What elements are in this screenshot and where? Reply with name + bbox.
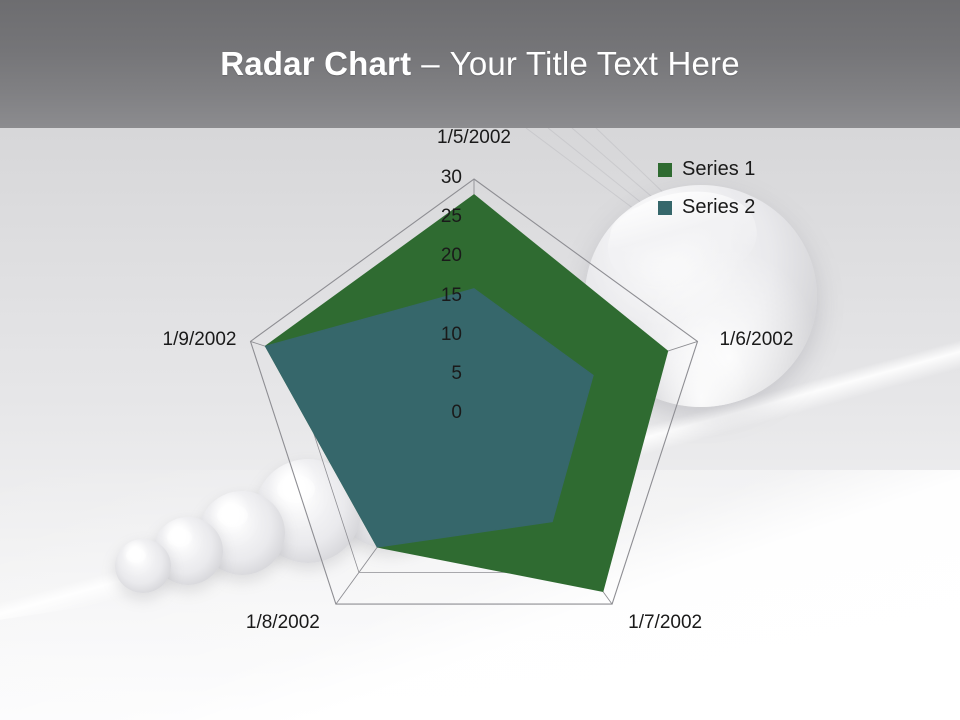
legend-label: Series 2: [682, 196, 755, 219]
chart-legend: Series 1Series 2: [658, 158, 828, 234]
legend-label: Series 1: [682, 158, 755, 181]
title-bold-part: Radar Chart: [220, 45, 411, 83]
category-label-1-6-2002: 1/6/2002: [719, 329, 829, 351]
radial-tick-label-5: 5: [406, 363, 462, 385]
legend-swatch-icon-series-1: [658, 163, 672, 177]
category-label-1-5-2002: 1/5/2002: [426, 127, 522, 149]
legend-item-series-2[interactable]: Series 2: [658, 196, 828, 219]
category-label-1-8-2002: 1/8/2002: [210, 612, 320, 634]
radial-tick-label-20: 20: [406, 245, 462, 267]
radial-tick-label-0: 0: [406, 402, 462, 424]
category-label-1-7-2002: 1/7/2002: [628, 612, 738, 634]
radial-tick-label-30: 30: [406, 167, 462, 189]
radial-tick-label-10: 10: [406, 324, 462, 346]
legend-swatch-icon-series-2: [658, 201, 672, 215]
title-dash: –: [421, 45, 440, 83]
page-title: Radar Chart – Your Title Text Here: [0, 0, 960, 128]
radial-tick-label-15: 15: [406, 285, 462, 307]
legend-item-series-1[interactable]: Series 1: [658, 158, 828, 181]
slide-canvas: Radar Chart – Your Title Text Here 05101…: [0, 0, 960, 720]
radial-tick-label-25: 25: [406, 206, 462, 228]
category-label-1-9-2002: 1/9/2002: [127, 329, 237, 351]
title-rest-part: Your Title Text Here: [450, 45, 740, 83]
radar-series-areas: [265, 195, 667, 592]
